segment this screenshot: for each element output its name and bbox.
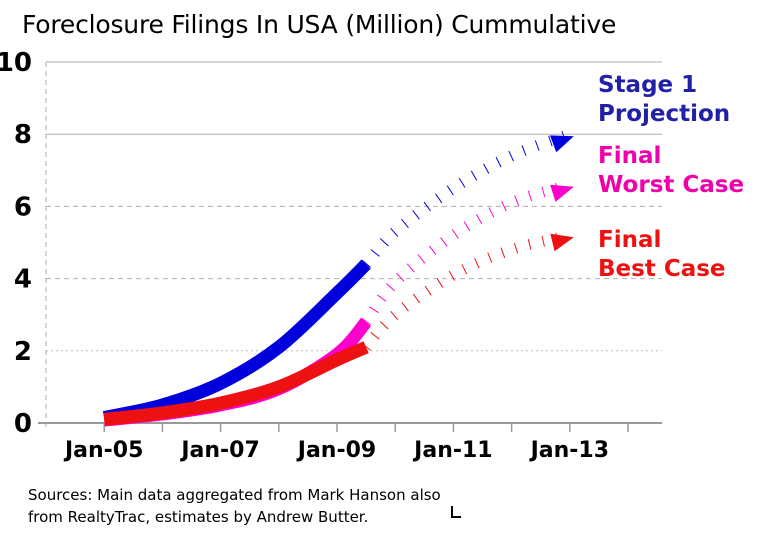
- page-title: Foreclosure Filings In USA (Million) Cum…: [22, 10, 616, 39]
- y-tick-label-10: 10: [0, 48, 32, 78]
- series-label-final-worst-case-line-1: Final: [598, 143, 661, 169]
- foreclosure-chart: Foreclosure Filings In USA (Million) Cum…: [0, 0, 772, 547]
- x-tick-label-jan-13: Jan-13: [529, 438, 609, 463]
- source-note-line-1: Sources: Main data aggregated from Mark …: [28, 486, 441, 504]
- series-label-stage-1-projection-line-1: Stage 1: [598, 72, 697, 98]
- y-tick-label-6: 6: [14, 192, 32, 222]
- y-tick-label-4: 4: [14, 265, 32, 295]
- x-tick-label-jan-11: Jan-11: [412, 438, 492, 463]
- x-tick-label-jan-07: Jan-07: [179, 438, 259, 463]
- y-tick-label-0: 0: [14, 409, 32, 439]
- series-label-final-worst-case-line-2: Worst Case: [598, 172, 744, 198]
- series-label-stage-1-projection-line-2: Projection: [598, 101, 730, 127]
- source-note-line-2: from RealtyTrac, estimates by Andrew But…: [28, 508, 368, 526]
- x-tick-label-jan-09: Jan-09: [296, 438, 376, 463]
- x-tick-label-jan-05: Jan-05: [63, 438, 143, 463]
- y-tick-label-2: 2: [14, 337, 32, 367]
- series-label-final-best-case-line-1: Final: [598, 227, 661, 253]
- y-tick-label-8: 8: [14, 120, 32, 150]
- chart-canvas: Foreclosure Filings In USA (Million) Cum…: [0, 0, 772, 547]
- series-label-final-best-case-line-2: Best Case: [598, 256, 726, 282]
